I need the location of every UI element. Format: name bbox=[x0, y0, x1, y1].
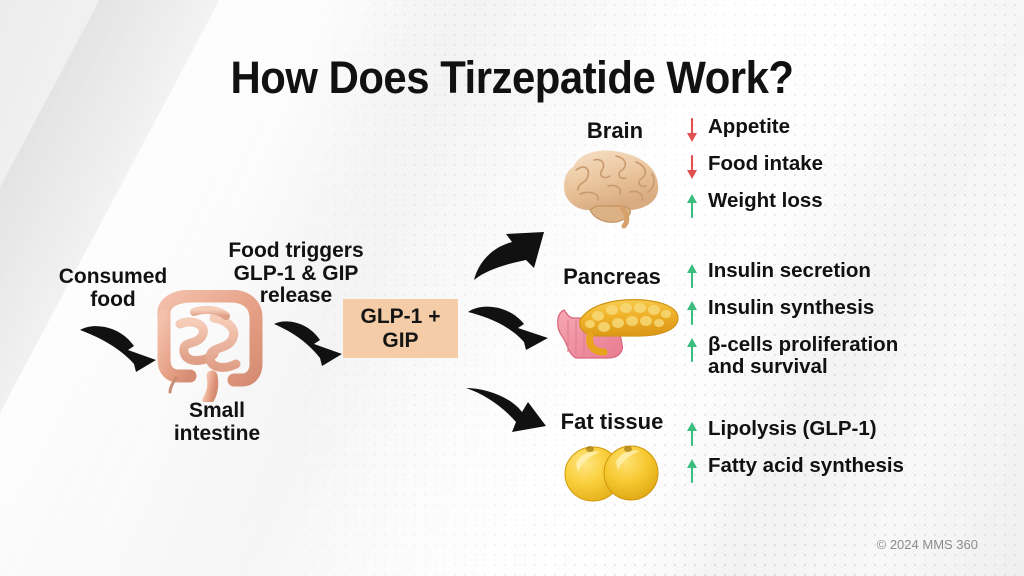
effect-item: Weight loss bbox=[682, 190, 823, 218]
effect-label: Food intake bbox=[708, 153, 823, 175]
effect-label: Insulin synthesis bbox=[708, 297, 874, 319]
arrow-intestine-to-hormone-box bbox=[272, 316, 346, 370]
hormone-box-glp1-gip: GLP-1 + GIP bbox=[343, 299, 458, 358]
arrow-down-icon bbox=[682, 118, 702, 144]
arrow-up-icon bbox=[682, 457, 702, 483]
food-triggers-label: Food triggers GLP-1 & GIP release bbox=[206, 240, 386, 308]
arrow-down-icon bbox=[682, 155, 702, 181]
effect-label: Lipolysis (GLP-1) bbox=[708, 418, 877, 440]
arrow-up-icon bbox=[682, 262, 702, 288]
effect-label: Weight loss bbox=[708, 190, 823, 212]
brain-effect-list: Appetite Food intake Weight loss bbox=[682, 116, 823, 227]
brain-label: Brain bbox=[556, 119, 674, 143]
effect-label: Appetite bbox=[708, 116, 790, 138]
effect-item: Food intake bbox=[682, 153, 823, 181]
arrow-up-icon bbox=[682, 420, 702, 446]
arrow-to-brain bbox=[472, 230, 548, 286]
arrow-up-icon bbox=[682, 336, 702, 362]
effect-item: β-cells proliferation and survival bbox=[682, 334, 898, 378]
pancreas-illustration bbox=[554, 290, 682, 370]
effect-label: β-cells proliferation and survival bbox=[708, 334, 898, 378]
effect-item: Lipolysis (GLP-1) bbox=[682, 418, 904, 446]
effect-item: Appetite bbox=[682, 116, 823, 144]
small-intestine-label: Small intestine bbox=[152, 400, 282, 445]
fat-tissue-illustration bbox=[560, 440, 664, 504]
fat-tissue-label: Fat tissue bbox=[544, 410, 680, 434]
effect-item: Insulin secretion bbox=[682, 260, 898, 288]
effect-item: Insulin synthesis bbox=[682, 297, 898, 325]
brain-illustration bbox=[556, 146, 668, 230]
arrow-up-icon bbox=[682, 299, 702, 325]
effect-item: Fatty acid synthesis bbox=[682, 455, 904, 483]
fat-effect-list: Lipolysis (GLP-1) Fatty acid synthesis bbox=[682, 418, 904, 492]
arrow-up-icon bbox=[682, 192, 702, 218]
pancreas-effect-list: Insulin secretion Insulin synthesis β-ce… bbox=[682, 260, 898, 387]
infographic-canvas: How Does Tirzepatide Work? Consumed food bbox=[0, 0, 1024, 576]
effect-label: Insulin secretion bbox=[708, 260, 871, 282]
arrow-to-fat-tissue bbox=[464, 382, 550, 436]
arrow-to-pancreas bbox=[466, 300, 552, 352]
pancreas-label: Pancreas bbox=[546, 265, 678, 289]
effect-label: Fatty acid synthesis bbox=[708, 455, 904, 477]
page-title: How Does Tirzepatide Work? bbox=[36, 52, 988, 104]
copyright-notice: © 2024 MMS 360 bbox=[877, 537, 978, 552]
